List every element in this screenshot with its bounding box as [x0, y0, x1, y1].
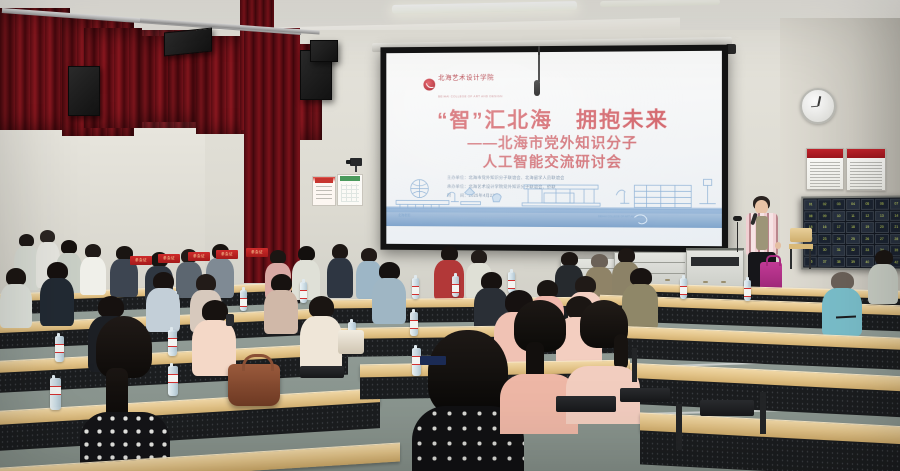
number-board-cell[interactable]: 05: [861, 199, 874, 210]
desk-microphone: [733, 216, 742, 221]
audience-person: [868, 250, 898, 302]
number-board-cell[interactable]: 39: [846, 256, 859, 267]
presenter-inner-top: [756, 216, 768, 250]
audience-person: [300, 296, 342, 368]
number-board-cell[interactable]: 17: [832, 222, 845, 232]
number-board-cell[interactable]: 12: [861, 210, 874, 221]
name-placard: 参会证: [130, 256, 152, 265]
notice-poster-right: [846, 148, 886, 191]
safety-poster-red: [312, 176, 336, 206]
leather-handbag: [228, 364, 280, 406]
number-board-cell[interactable]: 32: [846, 245, 859, 256]
number-board-cell[interactable]: 06: [875, 199, 889, 210]
name-placard: 参会证: [188, 252, 210, 261]
hair: [428, 330, 508, 416]
number-board-cell[interactable]: 01: [804, 199, 817, 209]
institute-emblem-icon: [423, 79, 435, 91]
number-board-cell[interactable]: 03: [832, 199, 845, 210]
water-bottle: [680, 278, 687, 299]
notice-poster-left: [806, 148, 844, 190]
presenter-hand: [775, 242, 781, 249]
number-board-cell[interactable]: 28: [890, 234, 900, 245]
slide-subtitle-line2: 人工智能交流研讨会: [386, 151, 722, 172]
wall-speaker-left: [68, 66, 100, 116]
number-board-cell[interactable]: 09: [818, 211, 831, 221]
security-camera-icon: [350, 158, 362, 166]
slide-logo: 北海艺术设计学院 BEIHAI COLLEGE OF ART AND DESIG…: [423, 66, 502, 102]
desk-leg: [760, 392, 766, 434]
desk-microphone-stand: [737, 222, 738, 252]
number-board-cell[interactable]: 14: [890, 210, 900, 221]
lecture-hall-photo: 北海艺术设计学院 BEIHAI COLLEGE OF ART AND DESIG…: [0, 0, 900, 471]
schedule-poster-green: [337, 174, 363, 206]
water-bottle: [744, 280, 751, 301]
city-skyline-illustration: 北海老街 BEIHAI COLLEGE OF ART AND DESIGN: [386, 171, 722, 228]
smartphone: [226, 314, 234, 326]
number-board-cell[interactable]: 13: [875, 210, 889, 221]
water-bottle: [452, 276, 459, 297]
audience-person: [327, 244, 353, 296]
water-bottle: [55, 336, 64, 362]
hanging-cable: [538, 46, 540, 82]
slide-wave-band: [386, 206, 722, 228]
hanging-microphone: [534, 80, 540, 96]
wall-speaker-upper: [164, 27, 212, 56]
number-board-cell[interactable]: 02: [818, 199, 831, 210]
wall-clock: [800, 88, 836, 124]
seat-back: [620, 388, 670, 402]
audience-person: [372, 262, 406, 322]
desk-leg: [676, 404, 682, 450]
audience-person: [822, 272, 862, 334]
name-placard: 参会证: [158, 254, 180, 263]
number-board-cell[interactable]: 08: [804, 211, 817, 221]
number-board-cell[interactable]: 16: [818, 222, 831, 232]
number-board-cell[interactable]: 21: [890, 222, 900, 233]
number-board-cell[interactable]: 23: [818, 233, 831, 243]
stage-curtain-right: [244, 28, 300, 283]
number-board-cell[interactable]: 18: [846, 222, 859, 233]
notice-header: [847, 149, 885, 158]
seat-back: [556, 396, 616, 412]
seat-back: [700, 400, 754, 416]
number-board-cell[interactable]: 25: [846, 233, 859, 244]
notebook: [420, 356, 446, 365]
water-bottle: [412, 278, 419, 299]
institute-name: 北海艺术设计学院: [438, 74, 494, 81]
number-board-cell[interactable]: 04: [846, 199, 859, 210]
audience-person: [40, 262, 74, 324]
presenter-bag-handle: [766, 255, 781, 266]
ponytail: [614, 334, 628, 370]
presenter-head: [755, 200, 768, 214]
audience-person: [110, 246, 138, 296]
number-board-cell[interactable]: 30: [818, 245, 831, 255]
slide-subtitle-line1: ——北海市党外知识分子: [386, 132, 722, 153]
side-chair: [788, 228, 814, 270]
seat-back: [300, 366, 344, 378]
number-board-cell[interactable]: 19: [861, 222, 874, 233]
handbag: [338, 330, 364, 354]
notice-header: [807, 149, 843, 158]
notice-body: [847, 158, 885, 194]
number-board-cell[interactable]: 38: [832, 256, 845, 267]
stage-curtain-1: [0, 8, 70, 130]
number-board-cell[interactable]: 20: [875, 222, 889, 233]
water-bottle: [240, 290, 247, 311]
number-board-cell[interactable]: 37: [818, 256, 831, 267]
institute-name-en: BEIHAI COLLEGE OF ART AND DESIGN: [438, 94, 502, 98]
audience-person: [264, 274, 298, 332]
number-board-cell[interactable]: 11: [846, 210, 859, 221]
name-placard: 参会证: [216, 250, 238, 259]
water-bottle: [50, 378, 61, 410]
number-board-cell[interactable]: 07: [890, 199, 900, 210]
audience-person: [192, 300, 236, 372]
desk-leg: [632, 348, 637, 382]
audience-person: [80, 244, 106, 294]
audience-person-foreground: [80, 316, 170, 471]
notice-body: [807, 158, 843, 194]
number-board-cell[interactable]: 26: [861, 234, 874, 245]
slide-canvas: 北海艺术设计学院 BEIHAI COLLEGE OF ART AND DESIG…: [386, 51, 722, 246]
audience-person: [0, 268, 32, 326]
number-board-cell[interactable]: 10: [832, 211, 845, 222]
number-board-cell[interactable]: 31: [832, 245, 845, 256]
audience-person: [434, 246, 464, 298]
projection-screen[interactable]: 北海艺术设计学院 BEIHAI COLLEGE OF ART AND DESIG…: [380, 45, 728, 253]
slide-title: “智”汇北海 拥抱未来: [386, 103, 722, 134]
number-board-cell[interactable]: 27: [875, 234, 889, 245]
number-board-cell[interactable]: 24: [832, 233, 845, 243]
wall-speaker-center-top: [310, 40, 338, 62]
